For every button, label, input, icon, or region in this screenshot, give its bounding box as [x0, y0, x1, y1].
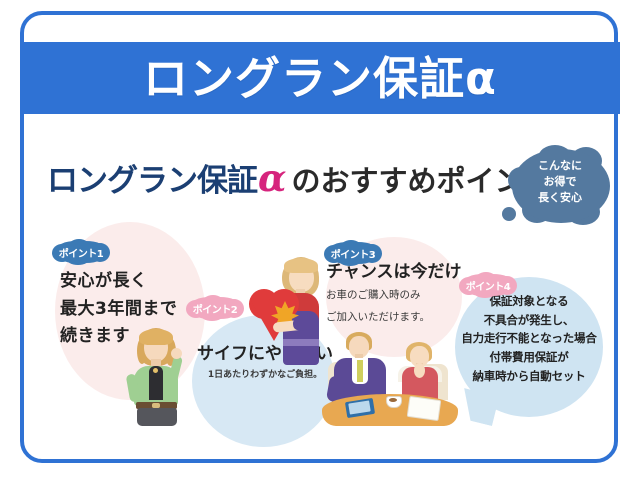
coffee-icon — [389, 398, 397, 402]
hand-icon — [171, 348, 182, 359]
cloud-line: 長く安心 — [508, 190, 612, 206]
thought-cloud-text: こんなに お得で 長く安心 — [508, 158, 612, 206]
woman-green-cardigan-illustration — [118, 328, 194, 426]
point3-badge-label: ポイント3 — [324, 246, 382, 261]
point4-heading-line: 不具合が発生し、 — [455, 311, 603, 330]
point3-text: チャンスは今だけ お車のご購入時のみ ご加入いただけます。 — [326, 262, 462, 325]
banner-title: ロングラン保証α — [143, 56, 497, 101]
hand-icon — [414, 363, 425, 378]
poster-root: ロングラン保証α ロングラン保証 α のおすすめポイント こんなに お得で 長く… — [0, 0, 640, 480]
sash-icon — [283, 339, 319, 346]
subtitle: ロングラン保証 α のおすすめポイント — [47, 155, 553, 200]
subtitle-brand: ロングラン保証 — [47, 155, 257, 200]
point3-sub-line: ご加入いただけます。 — [326, 309, 462, 325]
point1-heading-line: 最大3年間まで — [60, 296, 177, 324]
hair-icon — [139, 329, 173, 345]
point4-text: 保証対象となる 不具合が発生し、 自力走行不能となった場合 付帯費用保証が 納車… — [455, 292, 603, 385]
point2-badge: ポイント2 — [186, 295, 244, 321]
thought-cloud: こんなに お得で 長く安心 — [508, 145, 612, 227]
point4-heading-line: 自力走行不能となった場合 — [455, 329, 603, 348]
point3-badge: ポイント3 — [324, 240, 382, 266]
tie-icon — [357, 360, 363, 382]
point4-heading-line: 納車時から自動セット — [455, 367, 603, 386]
cloud-line: こんなに — [508, 158, 612, 174]
point1-badge-label: ポイント1 — [52, 245, 110, 260]
point2-sub-line: 1日あたりわずかなご負担。 — [192, 368, 338, 382]
point2-badge-label: ポイント2 — [186, 301, 244, 316]
cloud-line: お得で — [508, 174, 612, 190]
necklace-icon — [153, 368, 158, 373]
point1-badge: ポイント1 — [52, 239, 110, 265]
skirt-icon — [137, 408, 177, 426]
point4-badge: ポイント4 — [459, 272, 517, 298]
title-banner: ロングラン保証α — [20, 42, 620, 114]
point1-heading-line: 安心が長く — [60, 268, 177, 296]
cloud-dot-icon — [502, 207, 516, 221]
hair-icon — [284, 258, 318, 273]
point4-heading-line: 付帯費用保証が — [455, 348, 603, 367]
point4-badge-label: ポイント4 — [459, 278, 517, 293]
subtitle-alpha: α — [258, 156, 286, 200]
document-icon — [407, 396, 442, 421]
meeting-illustration — [322, 330, 458, 426]
point3-sub-line: お車のご購入時のみ — [326, 287, 462, 303]
